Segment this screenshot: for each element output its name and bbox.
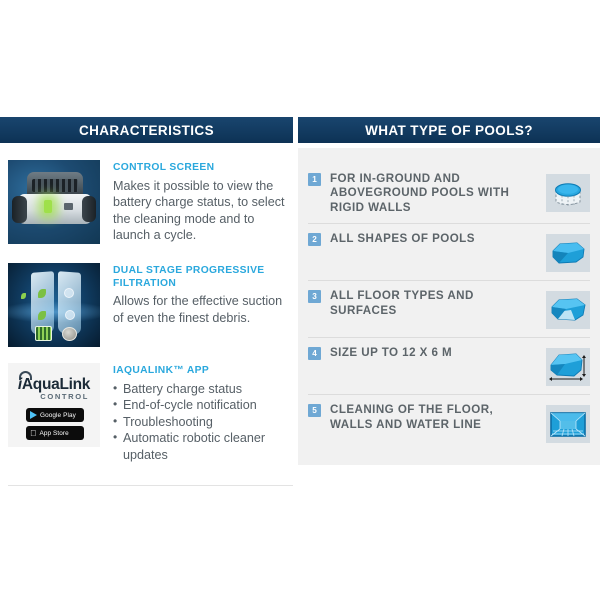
characteristic-title: iAQUALINK™ APP [113, 365, 265, 378]
pool-type-label: SIZE UP TO 12 X 6 M [321, 346, 542, 360]
control-screen-icon [64, 203, 73, 210]
pool-type-label: CLEANING OF THE FLOOR, WALLS AND WATER L… [321, 403, 542, 432]
pool-type-number-badge: 3 [308, 290, 321, 303]
robot-cleaner-photo [8, 160, 100, 244]
pool-types-column: 1 FOR IN-GROUND AND ABOVEGROUND POOLS WI… [298, 148, 600, 465]
pool-types-column-header: WHAT TYPE OF POOLS? [298, 117, 600, 143]
robot-wheel-left [12, 196, 27, 223]
pool-type-row-content: 1 FOR IN-GROUND AND ABOVEGROUND POOLS WI… [308, 164, 590, 223]
pool-types-panel: 1 FOR IN-GROUND AND ABOVEGROUND POOLS WI… [298, 148, 600, 465]
robot-wheel-right [82, 196, 96, 222]
characteristic-title: DUAL STAGE PROGRESSIVE FILTRATION [113, 265, 287, 290]
iaqualink-wordmark-text: AquaLink [22, 376, 90, 393]
characteristics-column: CONTROL SCREEN Makes it possible to view… [0, 148, 293, 463]
list-item-continuation: updates [113, 447, 265, 464]
pool-dimensions-icon [546, 348, 590, 386]
characteristics-column-header: CHARACTERISTICS [0, 117, 293, 143]
pool-type-number-badge: 5 [308, 404, 321, 417]
characteristic-title: CONTROL SCREEN [113, 162, 287, 175]
app-store-label: App Store [39, 430, 68, 437]
left-column-divider [8, 485, 293, 486]
characteristic-text-block: DUAL STAGE PROGRESSIVE FILTRATION Allows… [100, 263, 293, 326]
characteristic-row-control-screen: CONTROL SCREEN Makes it possible to view… [0, 160, 293, 244]
battery-status-led-icon [44, 200, 52, 213]
column-headers: CHARACTERISTICS WHAT TYPE OF POOLS? [0, 117, 600, 143]
pool-type-row: 2 ALL SHAPES OF POOLS [308, 223, 590, 280]
leaf-debris-icon [21, 293, 26, 299]
characteristic-description: Allows for the effective suction of even… [113, 293, 287, 326]
characteristic-description: Makes it possible to view the battery ch… [113, 178, 287, 244]
characteristic-text-block: CONTROL SCREEN Makes it possible to view… [100, 160, 293, 244]
pool-type-row: 1 FOR IN-GROUND AND ABOVEGROUND POOLS WI… [308, 164, 590, 223]
pool-type-number-badge: 2 [308, 233, 321, 246]
pool-type-label: ALL FLOOR TYPES AND SURFACES [321, 289, 542, 318]
characteristic-row-filtration: DUAL STAGE PROGRESSIVE FILTRATION Allows… [0, 263, 293, 347]
robot-grille-icon [32, 179, 78, 192]
fine-debris-icon [65, 310, 75, 320]
iaqualink-logo-subtitle: CONTROL [13, 392, 95, 401]
list-item: Troubleshooting [113, 414, 265, 431]
app-feature-list: Battery charge status End-of-cycle notif… [113, 381, 265, 464]
pool-type-label: ALL SHAPES OF POOLS [321, 232, 542, 246]
round-aboveground-pool-icon [546, 174, 590, 212]
pool-type-row: 5 CLEANING OF THE FLOOR, WALLS AND WATER… [308, 394, 590, 451]
pool-type-row-content: 3 ALL FLOOR TYPES AND SURFACES [308, 281, 590, 337]
pool-type-row: 4 SIZE UP TO 12 X 6 M [308, 337, 590, 394]
dual-filtration-panels-photo [8, 263, 100, 347]
product-feature-comparison-page: CHARACTERISTICS WHAT TYPE OF POOLS? CONT… [0, 0, 600, 600]
water-glow-effect [8, 301, 100, 323]
list-item: End-of-cycle notification [113, 397, 265, 414]
pool-floor-surface-icon [546, 291, 590, 329]
google-play-badge[interactable]: Google Play [26, 408, 84, 422]
pool-type-label: FOR IN-GROUND AND ABOVEGROUND POOLS WITH… [321, 172, 542, 215]
filter-panel-right [58, 271, 81, 335]
pool-type-number-badge: 4 [308, 347, 321, 360]
fine-debris-icon [64, 288, 74, 298]
freeform-pool-shape-icon [546, 234, 590, 272]
app-store-badge[interactable]:  App Store [26, 426, 84, 440]
list-item: Battery charge status [113, 381, 265, 398]
characteristic-row-iaqualink-app: iAquaLink CONTROL Google Play  App Stor… [0, 363, 293, 463]
coarse-filter-cartridge-icon [35, 326, 52, 341]
pool-type-row: 3 ALL FLOOR TYPES AND SURFACES [308, 280, 590, 337]
pool-type-row-content: 5 CLEANING OF THE FLOOR, WALLS AND WATER… [308, 395, 590, 451]
fine-filter-cartridge-icon [62, 327, 77, 341]
google-play-label: Google Play [40, 412, 76, 419]
characteristic-text-block: iAQUALINK™ APP Battery charge status End… [100, 363, 271, 463]
iaqualink-control-logo: iAquaLink CONTROL Google Play  App Stor… [8, 363, 100, 447]
pool-type-row-content: 4 SIZE UP TO 12 X 6 M [308, 338, 590, 394]
pool-type-number-badge: 1 [308, 173, 321, 186]
pool-interior-walls-icon [546, 405, 590, 443]
pool-type-row-content: 2 ALL SHAPES OF POOLS [308, 224, 590, 280]
google-play-triangle-icon [30, 411, 37, 419]
robot-body-shell [19, 194, 91, 224]
list-item: Automatic robotic cleaner [113, 430, 265, 447]
apple-logo-icon:  [30, 429, 36, 437]
